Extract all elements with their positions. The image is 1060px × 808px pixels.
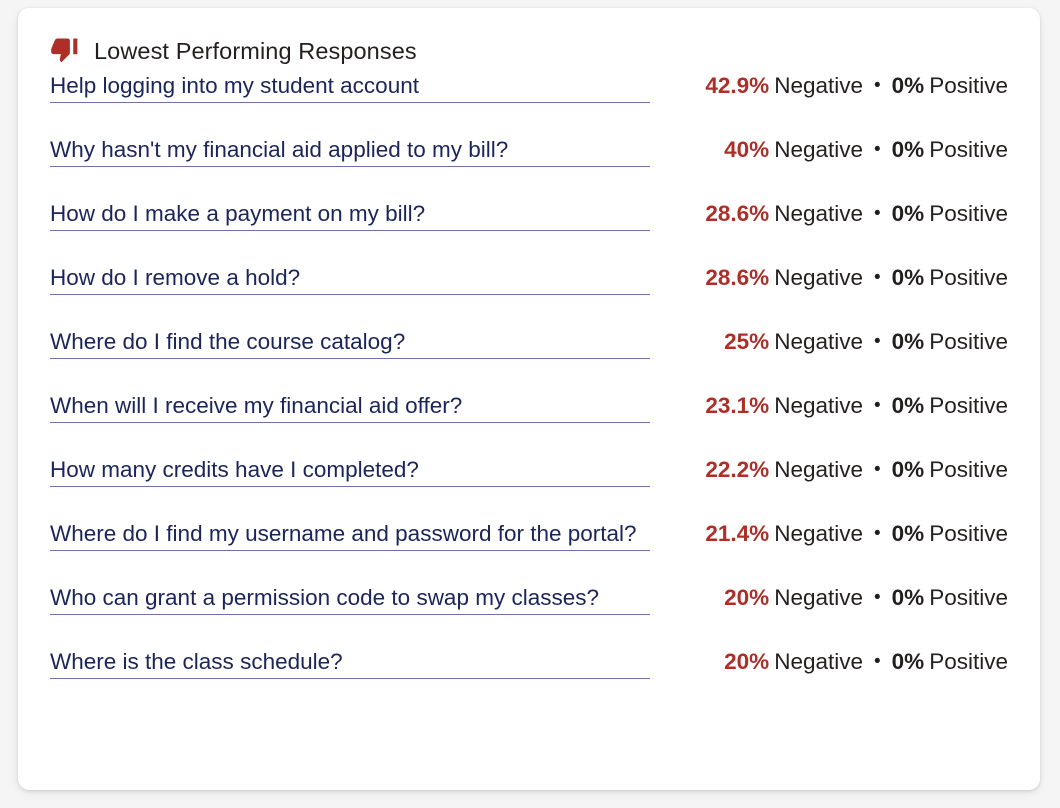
response-link[interactable]: How do I make a payment on my bill? <box>50 201 650 231</box>
response-stats: 25%Negative•0%Positive <box>650 329 1008 355</box>
response-list: Help logging into my student account 42.… <box>18 73 1040 713</box>
table-row: How do I remove a hold? 28.6%Negative•0%… <box>50 265 1008 329</box>
negative-percent: 22.2% <box>705 457 769 482</box>
negative-label: Negative <box>774 585 863 610</box>
response-link[interactable]: Who can grant a permission code to swap … <box>50 585 650 615</box>
table-row: Help logging into my student account 42.… <box>50 73 1008 137</box>
positive-label: Positive <box>929 201 1008 226</box>
table-row: Where is the class schedule? 20%Negative… <box>50 649 1008 713</box>
negative-percent: 28.6% <box>705 201 769 226</box>
separator-dot: • <box>874 523 881 545</box>
response-stats: 23.1%Negative•0%Positive <box>650 393 1008 419</box>
separator-dot: • <box>874 587 881 609</box>
separator-dot: • <box>874 459 881 481</box>
positive-label: Positive <box>929 585 1008 610</box>
negative-label: Negative <box>774 393 863 418</box>
response-link[interactable]: Where is the class schedule? <box>50 649 650 679</box>
table-row: How many credits have I completed? 22.2%… <box>50 457 1008 521</box>
separator-dot: • <box>874 331 881 353</box>
negative-percent: 40% <box>724 137 769 162</box>
positive-percent: 0% <box>892 457 925 482</box>
positive-label: Positive <box>929 457 1008 482</box>
separator-dot: • <box>874 139 881 161</box>
negative-label: Negative <box>774 265 863 290</box>
response-stats: 22.2%Negative•0%Positive <box>650 457 1008 483</box>
negative-label: Negative <box>774 137 863 162</box>
negative-percent: 21.4% <box>705 521 769 546</box>
negative-label: Negative <box>774 457 863 482</box>
lowest-performing-responses-card: Lowest Performing Responses Help logging… <box>18 8 1040 790</box>
table-row: Where do I find the course catalog? 25%N… <box>50 329 1008 393</box>
negative-label: Negative <box>774 329 863 354</box>
positive-label: Positive <box>929 649 1008 674</box>
positive-percent: 0% <box>892 73 925 98</box>
positive-percent: 0% <box>892 201 925 226</box>
positive-percent: 0% <box>892 393 925 418</box>
negative-percent: 23.1% <box>705 393 769 418</box>
positive-label: Positive <box>929 73 1008 98</box>
positive-label: Positive <box>929 521 1008 546</box>
response-link[interactable]: Why hasn't my financial aid applied to m… <box>50 137 650 167</box>
negative-label: Negative <box>774 521 863 546</box>
positive-percent: 0% <box>892 521 925 546</box>
response-link[interactable]: Help logging into my student account <box>50 73 650 103</box>
positive-label: Positive <box>929 265 1008 290</box>
positive-label: Positive <box>929 137 1008 162</box>
response-stats: 20%Negative•0%Positive <box>650 649 1008 675</box>
positive-label: Positive <box>929 393 1008 418</box>
response-link[interactable]: Where do I find the course catalog? <box>50 329 650 359</box>
negative-percent: 42.9% <box>705 73 769 98</box>
positive-percent: 0% <box>892 649 925 674</box>
table-row: How do I make a payment on my bill? 28.6… <box>50 201 1008 265</box>
response-stats: 42.9%Negative•0%Positive <box>650 73 1008 99</box>
card-header: Lowest Performing Responses <box>18 8 1040 51</box>
negative-percent: 28.6% <box>705 265 769 290</box>
negative-percent: 20% <box>724 649 769 674</box>
table-row: Where do I find my username and password… <box>50 521 1008 585</box>
response-stats: 28.6%Negative•0%Positive <box>650 201 1008 227</box>
separator-dot: • <box>874 203 881 225</box>
positive-percent: 0% <box>892 265 925 290</box>
response-stats: 21.4%Negative•0%Positive <box>650 521 1008 547</box>
response-link[interactable]: How many credits have I completed? <box>50 457 650 487</box>
response-stats: 40%Negative•0%Positive <box>650 137 1008 163</box>
separator-dot: • <box>874 395 881 417</box>
negative-label: Negative <box>774 649 863 674</box>
table-row: Why hasn't my financial aid applied to m… <box>50 137 1008 201</box>
response-link[interactable]: How do I remove a hold? <box>50 265 650 295</box>
negative-percent: 25% <box>724 329 769 354</box>
positive-percent: 0% <box>892 585 925 610</box>
separator-dot: • <box>874 651 881 673</box>
thumbs-down-icon <box>50 36 80 66</box>
response-stats: 20%Negative•0%Positive <box>650 585 1008 611</box>
table-row: When will I receive my financial aid off… <box>50 393 1008 457</box>
separator-dot: • <box>874 75 881 97</box>
page-title: Lowest Performing Responses <box>94 38 417 65</box>
positive-label: Positive <box>929 329 1008 354</box>
positive-percent: 0% <box>892 329 925 354</box>
negative-percent: 20% <box>724 585 769 610</box>
response-link[interactable]: When will I receive my financial aid off… <box>50 393 650 423</box>
table-row: Who can grant a permission code to swap … <box>50 585 1008 649</box>
separator-dot: • <box>874 267 881 289</box>
response-link[interactable]: Where do I find my username and password… <box>50 521 650 551</box>
positive-percent: 0% <box>892 137 925 162</box>
response-stats: 28.6%Negative•0%Positive <box>650 265 1008 291</box>
negative-label: Negative <box>774 73 863 98</box>
negative-label: Negative <box>774 201 863 226</box>
